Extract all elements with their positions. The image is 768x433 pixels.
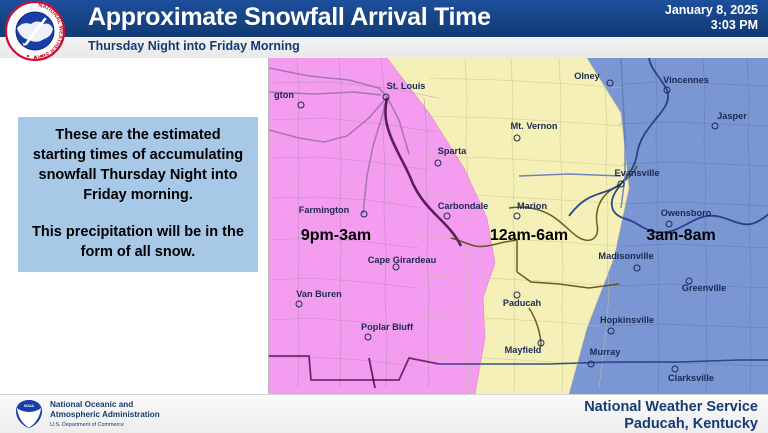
city-label: Marion [517, 201, 547, 211]
zone-label-9pm-3am: 9pm-3am [301, 227, 371, 245]
city-label: gton [274, 90, 294, 100]
city-label: Vincennes [663, 75, 709, 85]
issuance-timestamp: January 8, 2025 3:03 PM [665, 3, 758, 33]
city-label: Clarksville [668, 373, 714, 383]
city-dot [666, 221, 673, 228]
city-dot [607, 80, 614, 87]
infobox-line-4: Friday morning. [24, 185, 252, 205]
city-label: Cape Girardeau [368, 255, 436, 265]
city-dot [608, 328, 615, 335]
zone-label-3am-8am: 3am-8am [646, 227, 715, 245]
city-label: Van Buren [296, 289, 341, 299]
map-graphic [269, 58, 768, 394]
city-label: Carbondale [438, 201, 489, 211]
office-name: National Weather Service [584, 399, 758, 416]
city-dot [634, 265, 641, 272]
city-dot [588, 361, 595, 368]
city-dot [514, 213, 521, 220]
city-dot [686, 278, 693, 285]
infobox-line-1: These are the estimated [24, 125, 252, 145]
header-bar: Approximate Snowfall Arrival Time Januar… [0, 0, 768, 37]
noaa-logo-icon: NOAA [14, 399, 44, 429]
city-label: Farmington [299, 205, 350, 215]
city-dot [365, 334, 372, 341]
city-label: Mt. Vernon [511, 121, 558, 131]
noaa-line-3: U.S. Department of Commerce [50, 420, 160, 430]
page-title: Approximate Snowfall Arrival Time [88, 3, 491, 32]
city-dot [298, 102, 305, 109]
infobox-line-3: snowfall Thursday Night into [24, 165, 252, 185]
office-location: Paducah, Kentucky [584, 416, 758, 433]
noaa-line-1: National Oceanic and [50, 400, 160, 410]
svg-text:NOAA: NOAA [24, 404, 35, 408]
infobox-spacer [24, 205, 252, 222]
city-label: Greenville [682, 283, 726, 293]
city-label: Madisonville [598, 251, 653, 261]
nws-seal-icon: NATIONAL WEATHER SERVICE [4, 0, 66, 62]
snowfall-arrival-map[interactable]: 9pm-3am 12am-6am 3am-8am gton St. Louis … [268, 58, 768, 394]
city-dot [618, 181, 625, 188]
city-label: Evansville [615, 168, 660, 178]
city-label: Paducah [503, 298, 541, 308]
page-subtitle: Thursday Night into Friday Morning [88, 39, 300, 53]
city-dot [444, 213, 451, 220]
discussion-text-box: These are the estimated starting times o… [18, 117, 258, 272]
city-label: Owensboro [661, 208, 712, 218]
city-label: Sparta [438, 146, 467, 156]
infobox-line-2: starting times of accumulating [24, 145, 252, 165]
city-dot [296, 301, 303, 308]
city-dot [712, 123, 719, 130]
city-dot [514, 292, 521, 299]
city-dot [435, 160, 442, 167]
issuance-date: January 8, 2025 [665, 3, 758, 18]
noaa-agency-text: National Oceanic and Atmospheric Adminis… [50, 400, 160, 430]
city-dot [538, 340, 545, 347]
city-dot [361, 211, 368, 218]
city-label: Mayfield [505, 345, 542, 355]
city-dot [664, 87, 671, 94]
city-dot [383, 94, 390, 101]
city-label: Murray [590, 347, 621, 357]
city-label: Jasper [717, 111, 747, 121]
city-label: Hopkinsville [600, 315, 654, 325]
issuing-office: National Weather Service Paducah, Kentuc… [584, 399, 758, 433]
noaa-line-2: Atmospheric Administration [50, 410, 160, 420]
city-label: Olney [574, 71, 600, 81]
infobox-line-6: form of all snow. [24, 242, 252, 262]
issuance-time: 3:03 PM [665, 18, 758, 33]
zone-label-12am-6am: 12am-6am [490, 227, 568, 245]
infobox-line-5: This precipitation will be in the [24, 222, 252, 242]
city-dot [672, 366, 679, 373]
city-label: St. Louis [387, 81, 426, 91]
city-label: Poplar Bluff [361, 322, 413, 332]
city-dot [514, 135, 521, 142]
city-dot [393, 264, 400, 271]
